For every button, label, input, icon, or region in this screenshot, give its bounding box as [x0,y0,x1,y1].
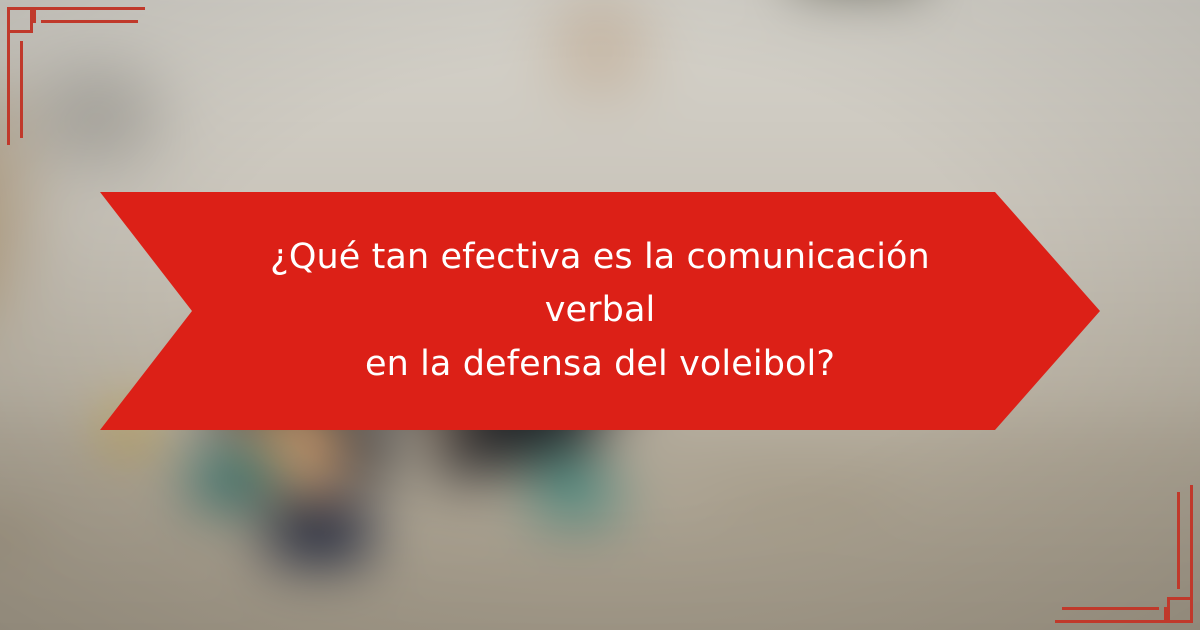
headline-text: ¿Qué tan efectiva es la comunicación ver… [210,231,990,391]
headline-line-1: ¿Qué tan efectiva es la comunicación ver… [270,237,930,330]
headline-line-2: en la defensa del voleibol? [365,344,835,384]
banner-canvas: ¿Qué tan efectiva es la comunicación ver… [0,0,1200,630]
headline-banner: ¿Qué tan efectiva es la comunicación ver… [100,192,1100,430]
